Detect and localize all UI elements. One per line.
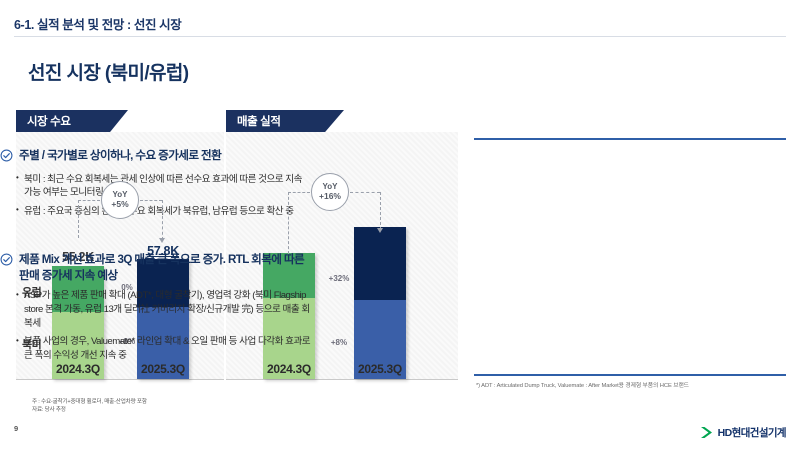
header-divider (14, 36, 786, 37)
page-number: 9 (14, 424, 18, 433)
check-circle-icon (0, 253, 13, 271)
insight-bullet-list: 북미 : 최근 수요 회복세는 관세 인상에 따른 선수요 효과에 따른 것으로… (0, 173, 312, 219)
insight-bullet: 부품 사업의 경우, Valuemate* 라인업 확대 & 오일 판매 등 사… (16, 335, 312, 362)
brand-logo: HD현대건설기계 (700, 425, 786, 440)
insight-bullet: 북미 : 최근 수요 회복세는 관세 인상에 따른 선수요 효과에 따른 것으로… (16, 173, 312, 200)
insights-top-rule (474, 138, 786, 140)
insight-heading-row: 제품 Mix 개선 효과로 3Q 매출 큰 폭으로 증가. RTL 회복에 따른… (0, 252, 312, 283)
yoy-leader-right-vertical (380, 192, 381, 230)
yoy-value: +5% (111, 200, 128, 209)
yoy-leader-left-horizontal (288, 192, 310, 193)
insight-heading-text: 제품 Mix 개선 효과로 3Q 매출 큰 폭으로 증가. RTL 회복에 따른… (19, 252, 312, 283)
insight-block-1: 주별 / 국가별로 상이하나, 수요 증가세로 전환 북미 : 최근 수요 회복… (0, 148, 312, 223)
insight-bullet: ASP가 높은 제품 판매 확대 (ADT*, 대형 굴착기), 영업력 강화 … (16, 289, 312, 330)
yoy-leader-right-vertical (162, 200, 163, 240)
brand-name: HD현대건설기계 (718, 425, 786, 440)
yoy-value: +16% (319, 192, 341, 201)
check-circle-icon (0, 149, 13, 167)
insight-heading-row: 주별 / 국가별로 상이하나, 수요 증가세로 전환 (0, 148, 312, 167)
yoy-leader-left-vertical (78, 200, 79, 238)
chart-note-line-2: 자료: 당사 추정 (32, 406, 66, 414)
x-axis-tick-2025: 2025.3Q (346, 362, 414, 376)
yoy-badge: YoY +5% (101, 181, 139, 219)
insights-bottom-rule (474, 374, 786, 376)
header-title: 6-1. 실적 분석 및 전망 : 선진 시장 (14, 14, 181, 33)
growth-label-europe: +32% (322, 274, 356, 283)
insight-bullet: 유럽 : 주요국 중심의 완만한 수요 회복세가 북유럽, 남유럽 등으로 확산… (16, 205, 312, 219)
bar-segment-europe-2025 (354, 227, 406, 300)
yoy-leader-right-horizontal (140, 200, 162, 201)
chart-tab-label: 매출 실적 (226, 110, 344, 132)
yoy-leader-right-horizontal (350, 192, 380, 193)
yoy-badge: YoY +16% (311, 173, 349, 211)
page-title: 선진 시장 (북미/유럽) (28, 58, 189, 85)
glossary-footnote: *) ADT : Articulated Dump Truck, Valuema… (476, 380, 796, 389)
stacked-bar-2025 (354, 227, 406, 379)
chart-tab-label: 시장 수요 (16, 110, 128, 132)
slide-root: 6-1. 실적 분석 및 전망 : 선진 시장 선진 시장 (북미/유럽) 시장… (0, 0, 800, 450)
yoy-arrow-icon (377, 228, 383, 233)
insight-heading-text: 주별 / 국가별로 상이하나, 수요 증가세로 전환 (19, 148, 221, 164)
green-chevron-icon (700, 426, 714, 439)
growth-label-northamerica: +8% (322, 338, 356, 347)
yoy-leader-left-horizontal (78, 200, 100, 201)
yoy-leader-left-vertical (288, 192, 289, 254)
insight-block-2: 제품 Mix 개선 효과로 3Q 매출 큰 폭으로 증가. RTL 회복에 따른… (0, 252, 312, 367)
yoy-arrow-icon (159, 238, 165, 243)
insight-bullet-list: ASP가 높은 제품 판매 확대 (ADT*, 대형 굴착기), 영업력 강화 … (0, 289, 312, 362)
